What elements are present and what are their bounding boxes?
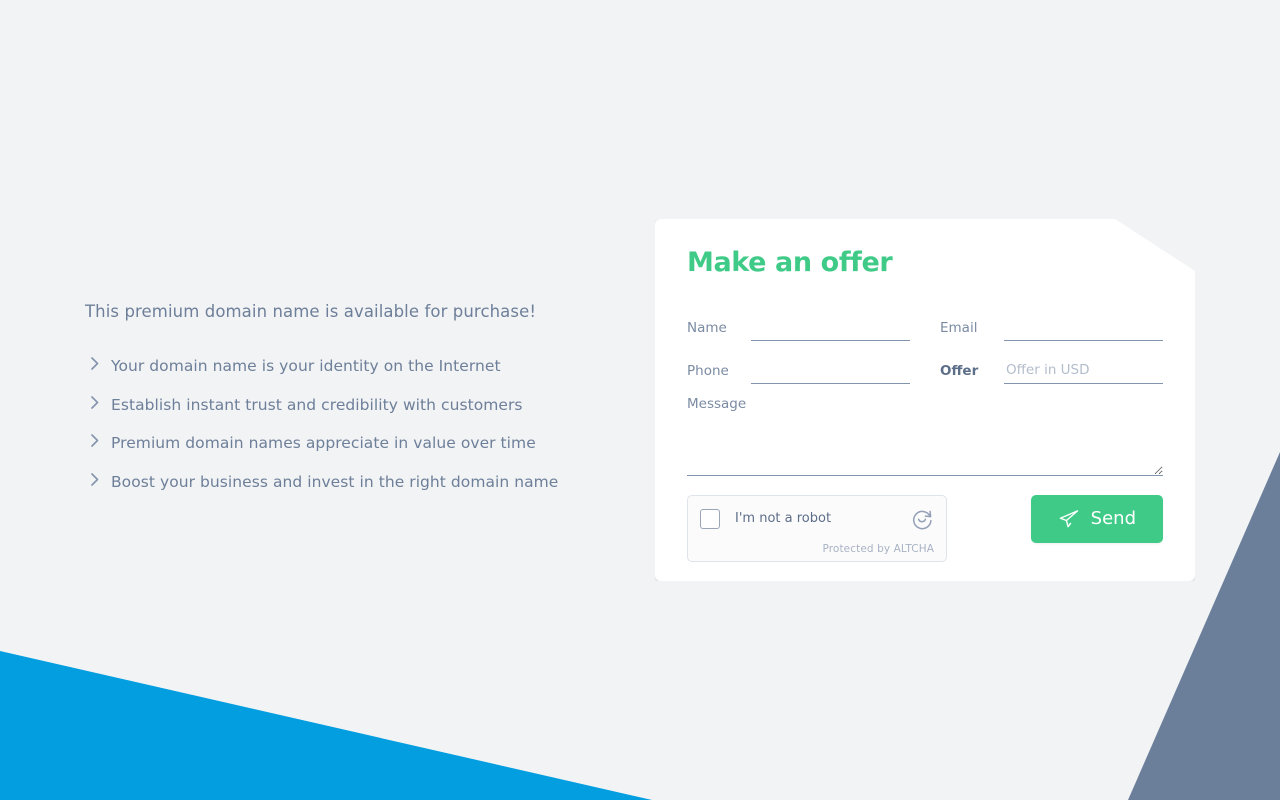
message-label: Message <box>687 398 1163 412</box>
field-offer: Offer <box>940 341 1163 384</box>
send-button[interactable]: Send <box>1031 495 1163 543</box>
card-title: Make an offer <box>687 249 1163 276</box>
chevron-right-icon <box>85 396 105 409</box>
field-message: Message <box>687 398 1163 476</box>
email-input[interactable] <box>1004 316 1163 341</box>
altcha-checkbox-label[interactable]: I'm not a robot <box>735 512 910 525</box>
page-headline: This premium domain name is available fo… <box>85 300 605 324</box>
field-email: Email <box>940 298 1163 341</box>
benefit-item: Your domain name is your identity on the… <box>85 356 605 378</box>
chevron-right-icon <box>85 434 105 447</box>
benefit-label: Premium domain names appreciate in value… <box>111 433 536 455</box>
altcha-checkbox[interactable] <box>700 509 720 529</box>
benefit-item: Boost your business and invest in the ri… <box>85 472 605 494</box>
phone-input[interactable] <box>751 359 910 384</box>
benefit-label: Boost your business and invest in the ri… <box>111 472 558 494</box>
phone-label: Phone <box>687 365 751 385</box>
offer-input[interactable] <box>1004 359 1163 384</box>
benefits-list: Your domain name is your identity on the… <box>85 356 605 494</box>
altcha-footer-text: Protected by ALTCHA <box>700 543 934 555</box>
name-input[interactable] <box>751 316 910 341</box>
paper-plane-icon <box>1058 508 1080 530</box>
chevron-right-icon <box>85 473 105 486</box>
offer-label: Offer <box>940 365 1004 385</box>
field-phone: Phone <box>687 341 910 384</box>
benefit-label: Your domain name is your identity on the… <box>111 356 501 378</box>
altcha-refresh-smile-icon[interactable] <box>910 507 934 531</box>
message-textarea[interactable] <box>687 418 1163 476</box>
send-button-label: Send <box>1091 508 1136 529</box>
benefit-label: Establish instant trust and credibility … <box>111 395 523 417</box>
make-an-offer-card: Make an offer Name Email Phone <box>655 219 1195 581</box>
benefit-item: Establish instant trust and credibility … <box>85 395 605 417</box>
name-label: Name <box>687 322 751 342</box>
chevron-right-icon <box>85 357 105 370</box>
form-footer-row: I'm not a robot Protected by ALTCHA <box>687 495 1163 562</box>
field-name: Name <box>687 298 910 341</box>
blue-triangle-decoration <box>0 651 652 800</box>
benefit-item: Premium domain names appreciate in value… <box>85 433 605 455</box>
altcha-captcha-widget[interactable]: I'm not a robot Protected by ALTCHA <box>687 495 947 562</box>
email-label: Email <box>940 322 1004 342</box>
offer-form: Name Email Phone Offer <box>687 298 1163 476</box>
marketing-column: This premium domain name is available fo… <box>85 300 605 511</box>
